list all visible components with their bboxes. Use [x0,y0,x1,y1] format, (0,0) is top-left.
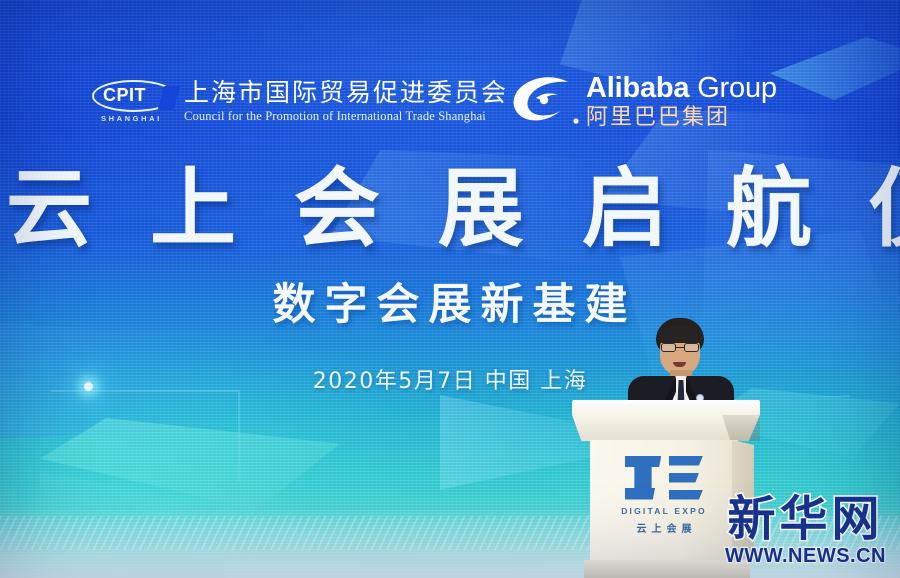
podium-top-surface [572,400,760,416]
alibaba-name-cn: 阿里巴巴集团 [586,107,777,129]
sponsor-logo-row: CPIT SHANGHAI 上海市国际贸易促进委员会 Council for t… [0,68,900,138]
event-sub-title: 数字会展新基建 [0,284,900,327]
alibaba-logo: Alibaba Group 阿里巴巴集团 [508,72,777,130]
event-date-location: 2020年5月7日 中国 上海 [0,371,900,393]
alibaba-mark-icon [508,72,582,130]
cpit-mark-sub: SHANGHAI [101,114,162,123]
alibaba-name-en-light: Group [697,72,777,104]
cpit-name-block: 上海市国际贸易促进委员会 Council for the Promotion o… [184,80,508,124]
alibaba-name-en: Alibaba Group [586,74,777,103]
cpit-name-en: Council for the Promotion of Internation… [184,109,508,124]
speaker-fringe [657,326,703,343]
cpit-name-cn: 上海市国际贸易促进委员会 [184,80,508,106]
digital-expo-cn: 云上会展 [632,520,697,535]
alibaba-name-block: Alibaba Group 阿里巴巴集团 [586,74,777,129]
event-main-title: 云 上 会 展 启 航 仪 式 [0,166,900,252]
cpit-mark-text: CPIT [103,85,146,106]
glasses-icon [661,343,699,352]
xinhua-watermark-url: WWW.NEWS.CN [725,546,886,566]
podium-logo: DIGITAL EXPO 云上会展 [590,440,738,562]
xinhua-watermark: 新华网 WWW.NEWS.CN [725,495,886,566]
cpit-logo: CPIT SHANGHAI 上海市国际贸易促进委员会 Council for t… [92,80,508,128]
digital-expo-en: DIGITAL EXPO [621,506,707,516]
letter-e-icon [669,456,703,500]
press-photo: CPIT SHANGHAI 上海市国际贸易促进委员会 Council for t… [0,0,900,578]
alibaba-name-en-bold: Alibaba [586,72,689,104]
digital-expo-mark-icon [625,456,703,500]
xinhua-watermark-cn: 新华网 [725,495,886,543]
cpit-mark-icon: CPIT SHANGHAI [92,80,176,128]
